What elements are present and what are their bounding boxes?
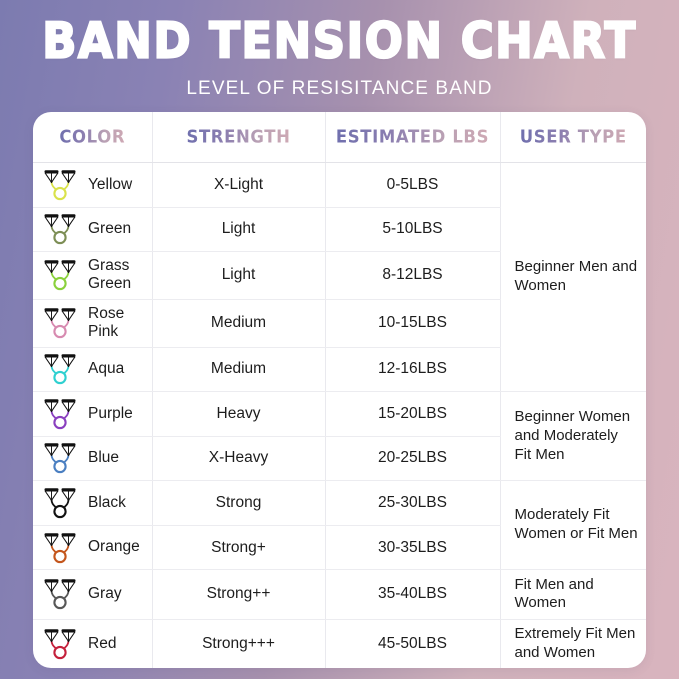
color-name: Aqua <box>88 360 124 378</box>
cell-estimated-lbs: 15-20LBS <box>325 392 500 437</box>
cell-color: Aqua <box>33 347 152 392</box>
color-name: Blue <box>88 449 119 467</box>
cell-color: Orange <box>33 525 152 570</box>
column-header-estimated-lbs: ESTIMATED LBS <box>325 112 500 163</box>
color-swatch-group: Red <box>41 627 144 661</box>
column-header-label: USER TYPE <box>520 126 627 147</box>
cell-estimated-lbs: 8-12LBS <box>325 252 500 300</box>
chart-card: COLORSTRENGTHESTIMATED LBSUSER TYPE Yell… <box>33 112 646 668</box>
color-name: Purple <box>88 405 133 423</box>
color-swatch-group: Green <box>41 212 144 246</box>
column-header-color: COLOR <box>33 112 152 163</box>
table-row: PurpleHeavy15-20LBSBeginner Women and Mo… <box>33 392 646 437</box>
resistance-band-icon <box>41 306 79 340</box>
cell-estimated-lbs: 30-35LBS <box>325 525 500 570</box>
resistance-band-icon <box>41 352 79 386</box>
cell-user-type: Fit Men and Women <box>500 570 646 619</box>
cell-color: Green <box>33 207 152 252</box>
page-title: BAND TENSION CHART <box>0 16 679 67</box>
cell-estimated-lbs: 25-30LBS <box>325 481 500 526</box>
cell-strength: Strong <box>152 481 325 526</box>
table-row: YellowX-Light0-5LBSBeginner Men and Wome… <box>33 163 646 208</box>
cell-estimated-lbs: 20-25LBS <box>325 436 500 481</box>
color-name: Grass Green <box>88 257 144 294</box>
table-body: YellowX-Light0-5LBSBeginner Men and Wome… <box>33 163 646 669</box>
cell-color: Gray <box>33 570 152 619</box>
cell-strength: Medium <box>152 299 325 347</box>
color-swatch-group: Rose Pink <box>41 305 144 342</box>
color-swatch-group: Black <box>41 486 144 520</box>
cell-color: Black <box>33 481 152 526</box>
cell-user-type: Beginner Men and Women <box>500 163 646 392</box>
color-swatch-group: Aqua <box>41 352 144 386</box>
color-name: Black <box>88 494 126 512</box>
cell-color: Blue <box>33 436 152 481</box>
cell-estimated-lbs: 35-40LBS <box>325 570 500 619</box>
cell-strength: Light <box>152 252 325 300</box>
color-swatch-group: Grass Green <box>41 257 144 294</box>
title-block: BAND TENSION CHART LEVEL OF RESISITANCE … <box>0 0 679 100</box>
cell-user-type: Moderately Fit Women or Fit Men <box>500 481 646 570</box>
column-header-user-type: USER TYPE <box>500 112 646 163</box>
resistance-band-icon <box>41 258 79 292</box>
resistance-band-icon <box>41 441 79 475</box>
cell-estimated-lbs: 0-5LBS <box>325 163 500 208</box>
column-header-label: STRENGTH <box>186 126 290 147</box>
resistance-band-icon <box>41 168 79 202</box>
cell-strength: X-Heavy <box>152 436 325 481</box>
cell-color: Yellow <box>33 163 152 208</box>
cell-strength: Light <box>152 207 325 252</box>
column-header-label: COLOR <box>59 126 125 147</box>
cell-color: Purple <box>33 392 152 437</box>
color-swatch-group: Orange <box>41 531 144 565</box>
table-row: GrayStrong++35-40LBSFit Men and Women <box>33 570 646 619</box>
column-header-strength: STRENGTH <box>152 112 325 163</box>
color-name: Green <box>88 220 131 238</box>
color-name: Yellow <box>88 176 132 194</box>
resistance-band-icon <box>41 577 79 611</box>
table-row: BlackStrong25-30LBSModerately Fit Women … <box>33 481 646 526</box>
cell-strength: Strong++ <box>152 570 325 619</box>
color-swatch-group: Purple <box>41 397 144 431</box>
cell-strength: X-Light <box>152 163 325 208</box>
cell-color: Red <box>33 619 152 668</box>
cell-user-type: Beginner Women and Moderately Fit Men <box>500 392 646 481</box>
column-header-label: ESTIMATED LBS <box>336 126 489 147</box>
color-swatch-group: Gray <box>41 577 144 611</box>
cell-estimated-lbs: 10-15LBS <box>325 299 500 347</box>
resistance-band-icon <box>41 627 79 661</box>
resistance-band-icon <box>41 397 79 431</box>
color-swatch-group: Yellow <box>41 168 144 202</box>
cell-strength: Heavy <box>152 392 325 437</box>
cell-color: Grass Green <box>33 252 152 300</box>
cell-estimated-lbs: 5-10LBS <box>325 207 500 252</box>
cell-estimated-lbs: 12-16LBS <box>325 347 500 392</box>
infographic-page: BAND TENSION CHART LEVEL OF RESISITANCE … <box>0 0 679 679</box>
cell-user-type: Extremely Fit Men and Women <box>500 619 646 668</box>
cell-strength: Medium <box>152 347 325 392</box>
cell-strength: Strong+++ <box>152 619 325 668</box>
cell-strength: Strong+ <box>152 525 325 570</box>
band-tension-table: COLORSTRENGTHESTIMATED LBSUSER TYPE Yell… <box>33 112 646 668</box>
table-header: COLORSTRENGTHESTIMATED LBSUSER TYPE <box>33 112 646 163</box>
header-row: COLORSTRENGTHESTIMATED LBSUSER TYPE <box>33 112 646 163</box>
cell-color: Rose Pink <box>33 299 152 347</box>
table-row: RedStrong+++45-50LBSExtremely Fit Men an… <box>33 619 646 668</box>
color-name: Rose Pink <box>88 305 144 342</box>
color-name: Orange <box>88 538 140 556</box>
resistance-band-icon <box>41 531 79 565</box>
resistance-band-icon <box>41 212 79 246</box>
page-subtitle: LEVEL OF RESISITANCE BAND <box>0 78 679 100</box>
color-swatch-group: Blue <box>41 441 144 475</box>
color-name: Gray <box>88 585 122 603</box>
cell-estimated-lbs: 45-50LBS <box>325 619 500 668</box>
color-name: Red <box>88 635 116 653</box>
resistance-band-icon <box>41 486 79 520</box>
